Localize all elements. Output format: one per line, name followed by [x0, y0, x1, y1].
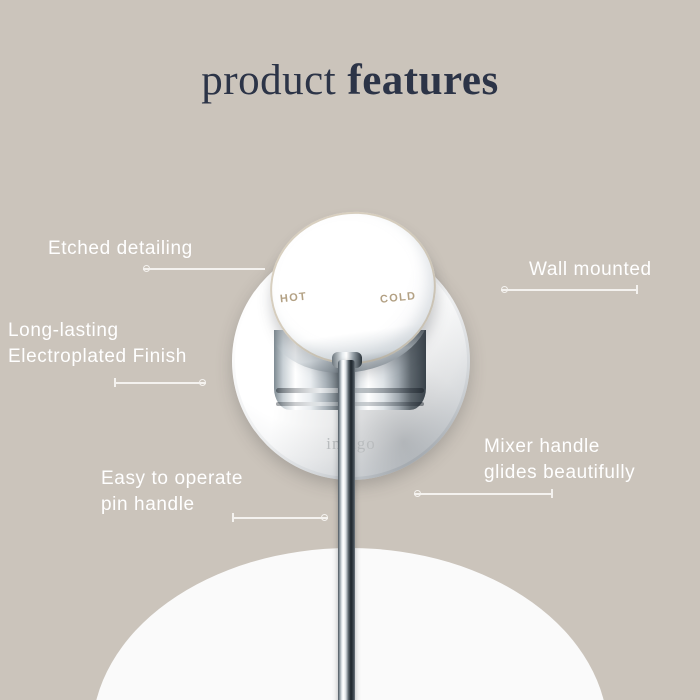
annotation-label-easy-to-operate-pin-handle: Easy to operate pin handle	[101, 466, 243, 518]
annotation-connector-wall-mounted	[501, 285, 638, 295]
annotation-label-long-lasting-electroplated-finish: Long-lasting Electroplated Finish	[8, 318, 187, 370]
connector-dot	[414, 490, 421, 497]
connector-line	[501, 289, 638, 291]
annotation-label-etched-detailing: Etched detailing	[48, 236, 193, 262]
connector-dot	[199, 379, 206, 386]
annotation-connector-mixer-handle-glides-beautifully	[414, 489, 553, 499]
annotation-connector-easy-to-operate-pin-handle	[232, 513, 328, 523]
wall-mixer-product-image: indigo HOT COLD	[228, 212, 474, 672]
connector-cap	[114, 378, 116, 387]
connector-cap	[636, 285, 638, 294]
connector-line	[232, 517, 328, 519]
pin-handle	[338, 360, 355, 700]
connector-line	[114, 382, 206, 384]
connector-dot	[501, 286, 508, 293]
product-feature-graphic: product features indigo HOT COLD Etched …	[0, 0, 700, 700]
annotation-label-wall-mounted: Wall mounted	[529, 257, 652, 283]
page-title-light: product	[201, 57, 347, 104]
connector-cap	[232, 513, 234, 522]
page-title-bold: features	[347, 57, 498, 104]
connector-line	[414, 493, 553, 495]
connector-line	[143, 268, 265, 270]
annotation-connector-etched-detailing	[143, 264, 265, 274]
annotation-connector-long-lasting-electroplated-finish	[114, 378, 206, 388]
connector-dot	[321, 514, 328, 521]
connector-cap	[551, 489, 553, 498]
page-title: product features	[0, 56, 700, 105]
connector-dot	[143, 265, 150, 272]
annotation-label-mixer-handle-glides-beautifully: Mixer handle glides beautifully	[484, 434, 635, 486]
